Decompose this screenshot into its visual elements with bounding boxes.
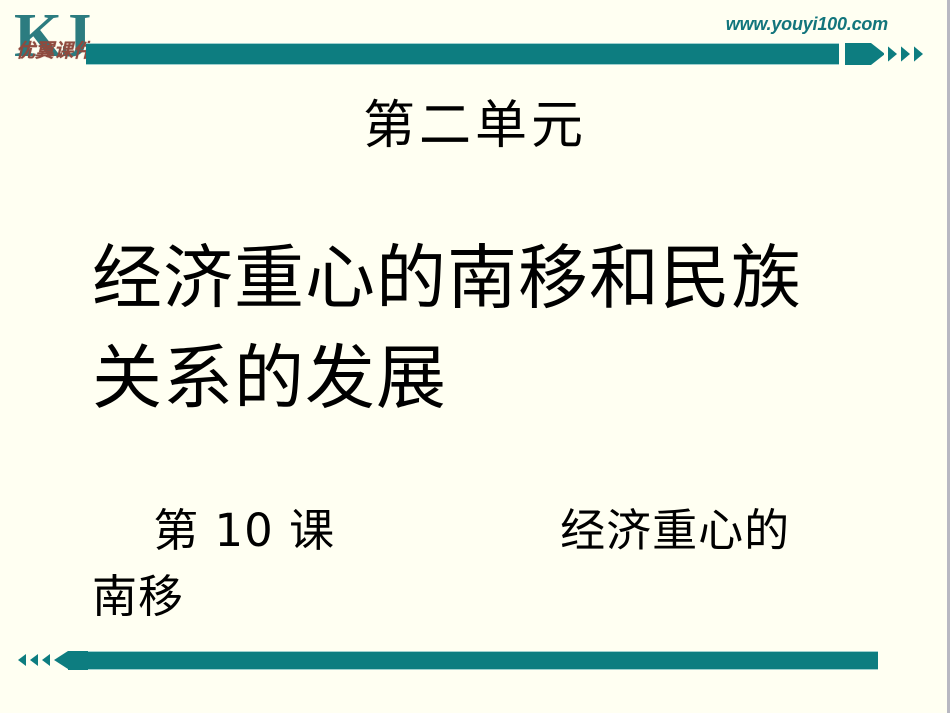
logo-brand-label: 优翼课件 (16, 36, 92, 63)
header-arrow-tip-icon (871, 43, 885, 65)
slide-header: KJ 优翼课件 www.youyi100.com (0, 0, 950, 80)
footer-chevron-gap-2 (38, 651, 42, 670)
presentation-slide: KJ 优翼课件 www.youyi100.com 第二单元 经济重心的南移和民族… (0, 0, 950, 713)
header-chevron-gap-2 (897, 43, 901, 65)
footer-chevron-gap-3 (26, 651, 30, 670)
lesson-name: 经济重心的 (560, 504, 790, 557)
site-url-text: www.youyi100.com (726, 14, 888, 35)
header-chevron-gap-1 (884, 43, 888, 65)
header-rule-bar (86, 43, 839, 65)
footer-arrow-block (68, 651, 88, 670)
footer-rule-bar (88, 651, 878, 670)
header-arrow-block (845, 43, 871, 65)
lesson-number: 第 10 课 (153, 504, 335, 557)
header-chevron-gap-3 (910, 43, 914, 65)
lesson-name-continued: 南移 (92, 570, 184, 623)
footer-arrow-tip-icon (54, 651, 68, 669)
slide-main-title: 经济重心的南移和民族 关系的发展 (92, 228, 892, 428)
unit-title: 第二单元 (0, 96, 950, 158)
footer-chevron-gap-1 (50, 651, 54, 670)
